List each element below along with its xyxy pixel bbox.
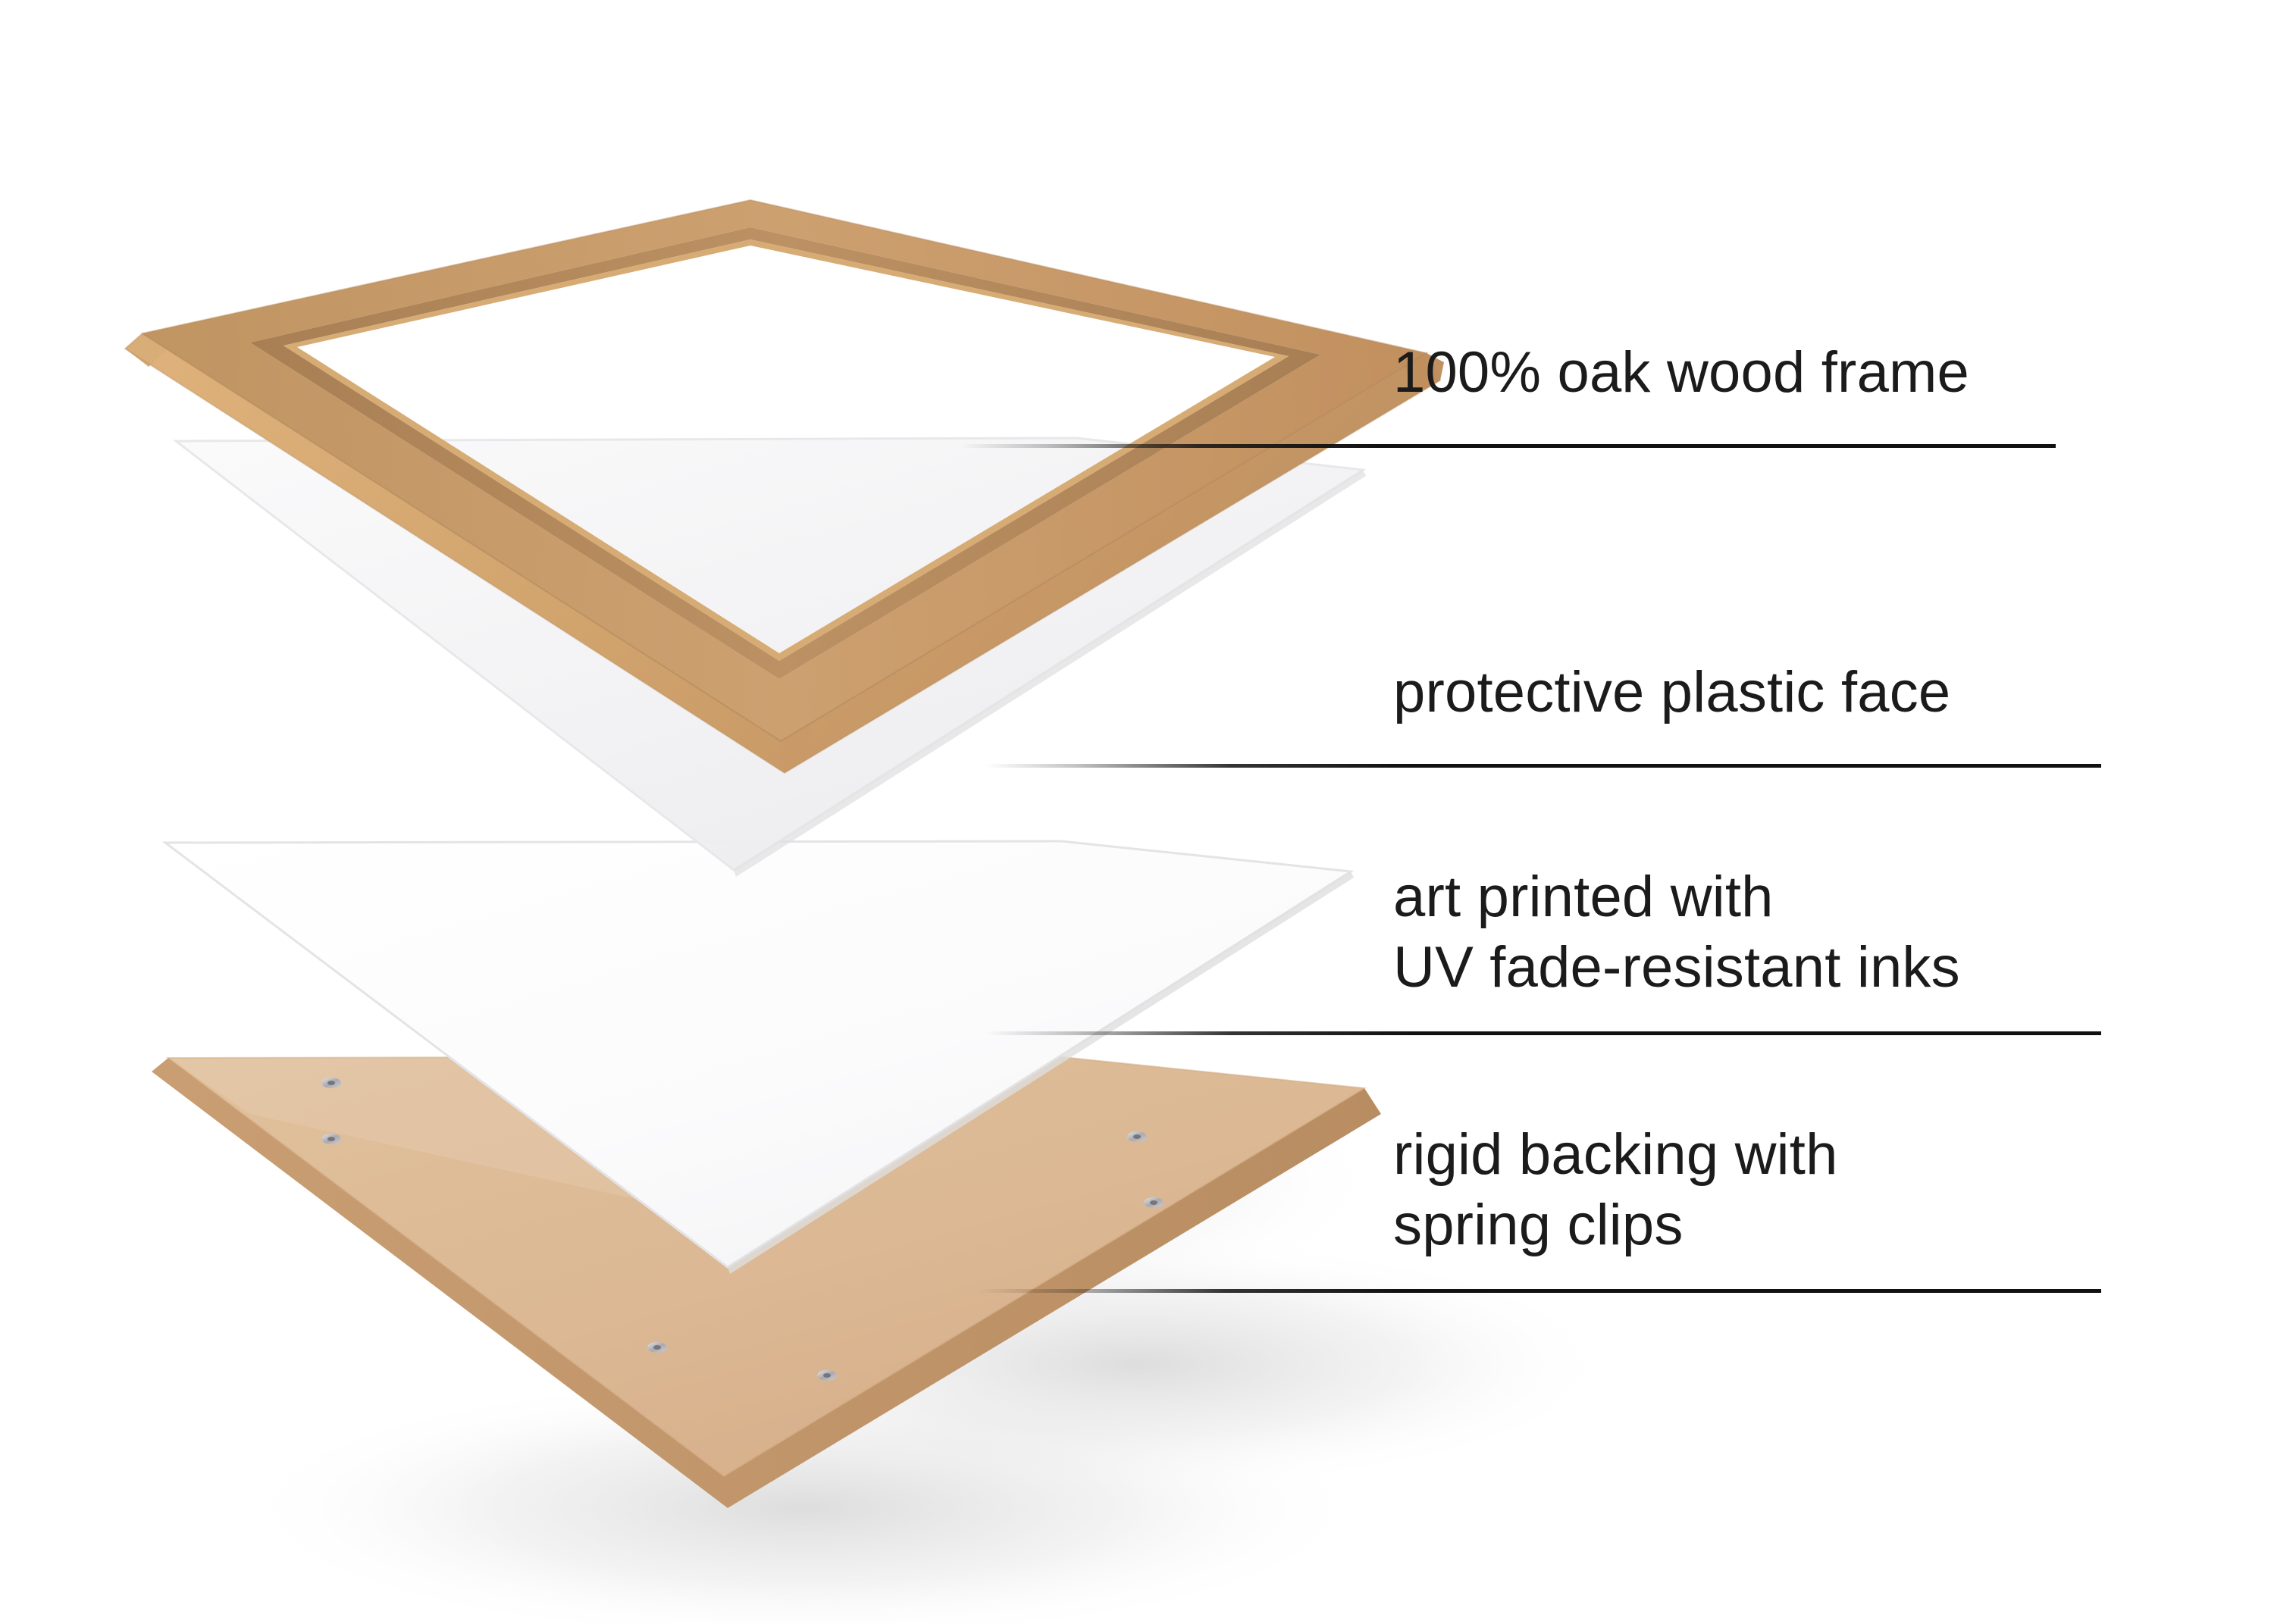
product-layers-illustration: [0, 0, 2274, 1624]
callout-art-leader-line: [985, 1031, 2101, 1035]
spring-clip-rivet[interactable]: [321, 1134, 341, 1144]
spring-clip-rivet[interactable]: [1144, 1197, 1164, 1208]
exploded-view-diagram: 100% oak wood frame protective plastic f…: [0, 0, 2274, 1624]
callout-plastic-leader-line: [985, 764, 2101, 768]
callout-frame-text: 100% oak wood frame: [1393, 338, 1969, 408]
callout-frame-leader-line: [961, 444, 2056, 448]
spring-clip-rivet[interactable]: [817, 1370, 837, 1381]
spring-clip-rivet[interactable]: [1127, 1131, 1147, 1142]
callout-art-text: art printed with UV fade-resistant inks: [1393, 862, 1960, 1003]
callout-plastic-text: protective plastic face: [1393, 658, 1950, 728]
spring-clip-rivet[interactable]: [321, 1078, 341, 1088]
callout-backing-text: rigid backing with spring clips: [1393, 1120, 1838, 1260]
callout-backing-leader-line: [978, 1289, 2101, 1293]
spring-clip-rivet[interactable]: [647, 1342, 667, 1353]
